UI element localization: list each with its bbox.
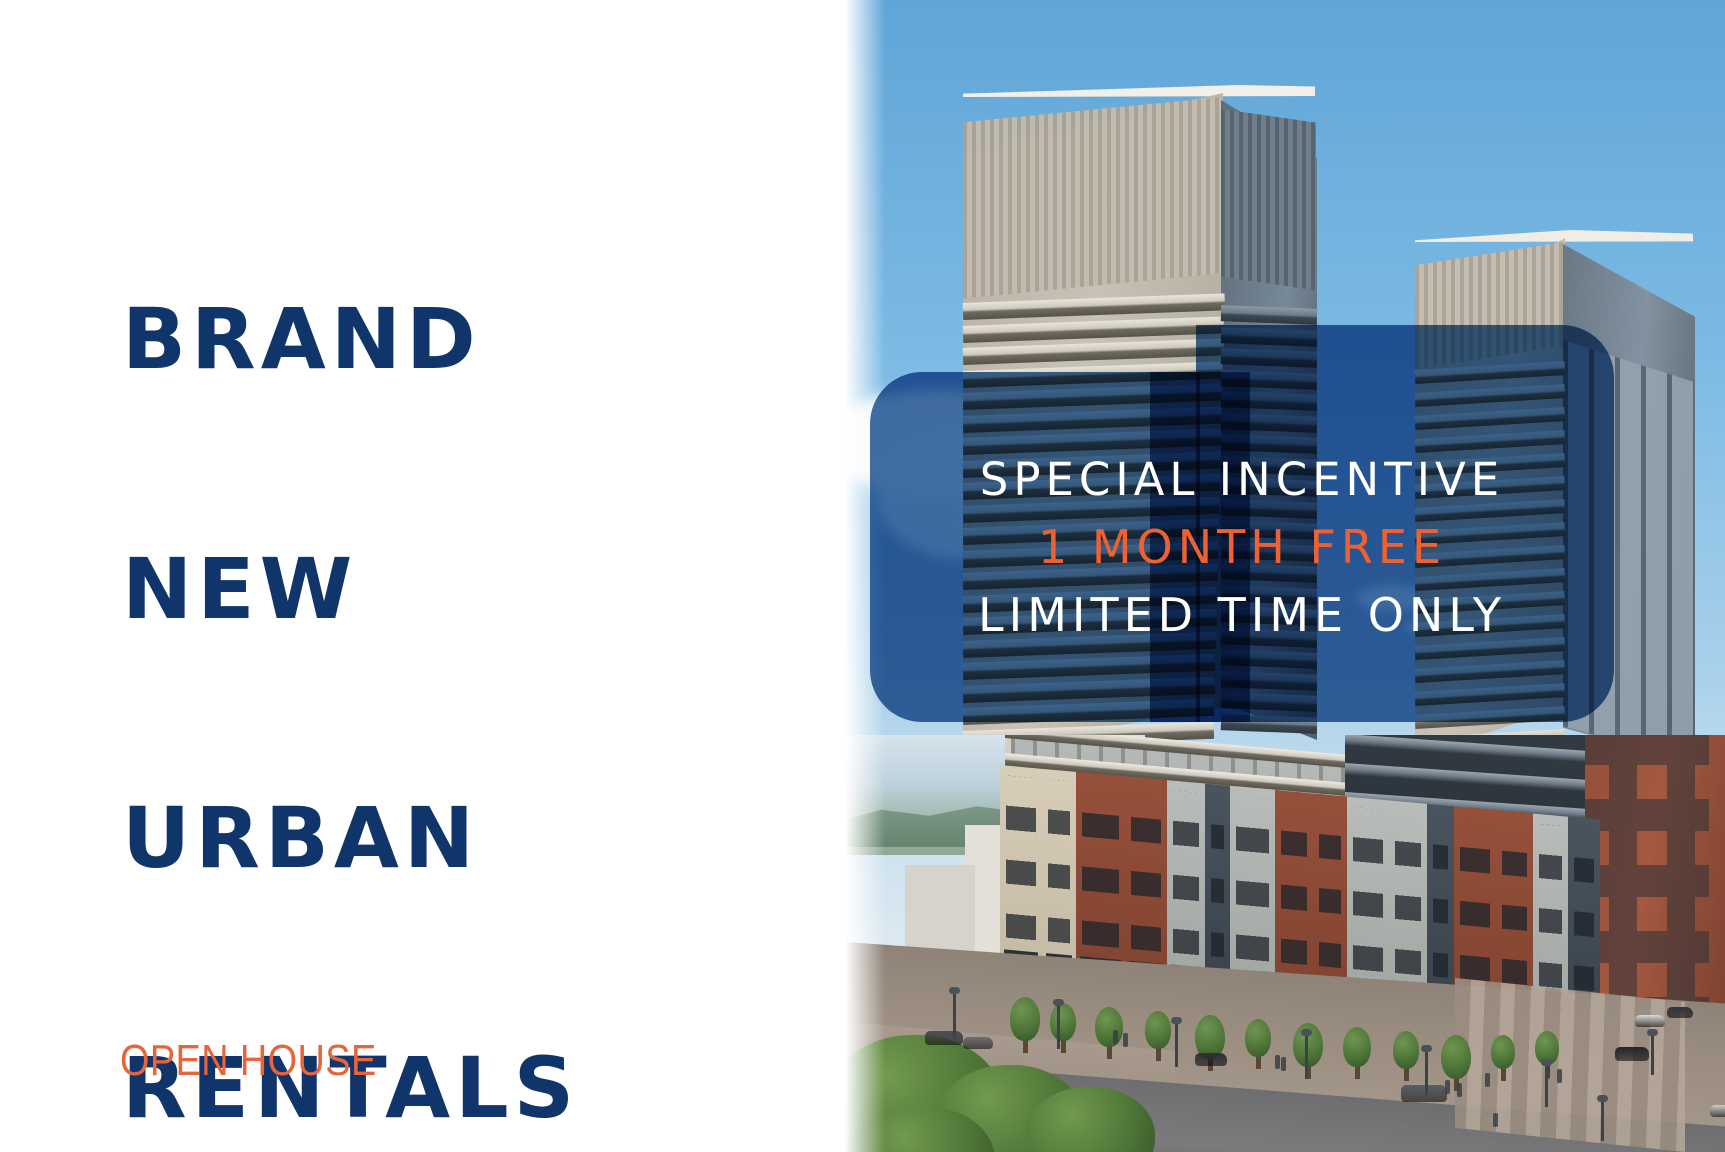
- balcony-slab: [1221, 649, 1318, 669]
- balcony-slab: [1415, 660, 1566, 683]
- car-icon: [1615, 1047, 1649, 1061]
- balcony-slab: [963, 429, 1222, 455]
- street-lamp-icon: [1651, 1035, 1654, 1075]
- balcony-slab: [963, 383, 1223, 410]
- balcony-slab: [1415, 453, 1566, 476]
- balcony-slab: [1221, 671, 1318, 691]
- pedestrian-icon: [1113, 1030, 1118, 1044]
- balcony-slab: [963, 541, 1219, 567]
- primary-tower: [945, 85, 1315, 785]
- bay-window-grid: [1048, 779, 1070, 957]
- pedestrian-icon: [1493, 1113, 1498, 1127]
- balcony-slab: [1221, 391, 1318, 411]
- headline-line-2: NEW: [122, 548, 579, 631]
- tower-crown: [963, 85, 1315, 97]
- balcony-slab: [963, 564, 1218, 590]
- secondary-tower: [1405, 230, 1695, 790]
- balcony-slab: [1415, 430, 1566, 453]
- street-level-podium: [845, 735, 1725, 1152]
- balcony-slab: [1415, 407, 1566, 430]
- balcony-slab: [963, 586, 1218, 612]
- tower-column-grid: [1563, 340, 1694, 760]
- tree-icon: [1343, 1027, 1371, 1067]
- balcony-slab: [1221, 413, 1318, 433]
- promotional-poster: BRAND NEW URBAN RENTALS OPEN HOUSE SATUR…: [0, 0, 1725, 1152]
- terrace-slab: [1345, 735, 1585, 763]
- balcony-slab: [963, 609, 1217, 635]
- balcony-slab: [1221, 542, 1318, 562]
- balcony-slab: [1221, 456, 1318, 476]
- bay-window-grid: [1281, 801, 1307, 979]
- balcony-slab: [1221, 520, 1318, 540]
- bay-window-grid: [1539, 824, 1561, 1002]
- car-icon: [1195, 1053, 1227, 1066]
- tree-icon: [1491, 1035, 1515, 1069]
- balcony-slab: [963, 699, 1215, 725]
- balcony-slab: [1221, 606, 1318, 626]
- tree-icon: [1095, 1007, 1123, 1047]
- street-lamp-icon: [1057, 1005, 1060, 1049]
- bay-window-grid: [1433, 814, 1448, 991]
- street-lamp-icon: [1425, 1051, 1428, 1095]
- bay-window-grid: [1574, 827, 1594, 1005]
- car-icon: [1401, 1085, 1447, 1102]
- bay-window-grid: [1353, 807, 1383, 986]
- balcony-slab: [1221, 477, 1318, 497]
- street-lamp-icon: [953, 993, 956, 1039]
- balcony-slab: [963, 451, 1221, 477]
- balcony-slab: [1415, 384, 1566, 407]
- balcony-slab: [963, 338, 1224, 365]
- balcony-slab: [1415, 614, 1566, 637]
- balcony-slab: [1415, 545, 1566, 568]
- balcony-slab: [1221, 434, 1318, 454]
- balcony-slab: [1415, 499, 1566, 522]
- pedestrian-icon: [1485, 1073, 1490, 1087]
- bay-window-grid: [1211, 794, 1224, 971]
- street-lamp-icon: [1601, 1101, 1604, 1141]
- balcony-slab: [1221, 370, 1318, 390]
- tower-balcony-stack-left: [963, 303, 1225, 753]
- tower-crown: [1415, 230, 1693, 242]
- balcony-slab: [1415, 476, 1566, 499]
- bay-window-grid: [1082, 782, 1119, 961]
- bay-window-grid: [1006, 776, 1036, 955]
- balcony-slab: [1415, 568, 1566, 591]
- balcony-slab: [1415, 683, 1566, 706]
- bay-window-grid: [1236, 796, 1270, 975]
- bay-window-grid: [1460, 817, 1490, 996]
- street-lamp-icon: [1305, 1035, 1308, 1079]
- balcony-slab: [1415, 522, 1566, 545]
- balcony-slab: [1221, 563, 1318, 583]
- pedestrian-icon: [1445, 1080, 1450, 1094]
- pedestrian-icon: [1457, 1083, 1462, 1097]
- bay-window-grid: [1395, 811, 1421, 989]
- street-lamp-icon: [1545, 1065, 1548, 1107]
- pedestrian-icon: [1281, 1057, 1286, 1071]
- balcony-slab: [963, 496, 1220, 522]
- balcony-slab: [963, 519, 1219, 545]
- pedestrian-icon: [1557, 1069, 1562, 1083]
- car-icon: [1635, 1015, 1665, 1027]
- car-icon: [963, 1037, 993, 1049]
- rendering-scene: [845, 0, 1725, 1152]
- balcony-slab: [963, 406, 1222, 432]
- balcony-slab: [1221, 692, 1318, 712]
- building-rendering-image: [845, 0, 1725, 1152]
- balcony-slab: [963, 676, 1215, 702]
- terrace-slab: [1345, 763, 1585, 792]
- pedestrian-icon: [1123, 1033, 1128, 1047]
- tree-icon: [1393, 1031, 1419, 1069]
- street-lamp-icon: [1175, 1023, 1178, 1067]
- car-icon: [1710, 1105, 1725, 1117]
- balcony-slab: [963, 654, 1216, 680]
- balcony-slab: [1221, 348, 1318, 368]
- tower-balcony-stack-right: [1221, 307, 1317, 737]
- balcony-slab: [1221, 305, 1318, 325]
- open-house-details: OPEN HOUSE SATURDAY 10 AM - 4 PM: [120, 920, 569, 1152]
- bay-window-grid: [1502, 821, 1528, 999]
- balcony-slab: [963, 474, 1221, 500]
- balcony-slab: [1221, 585, 1318, 605]
- pedestrian-icon: [1275, 1055, 1280, 1069]
- headline-line-1: BRAND: [122, 298, 579, 381]
- balcony-slab: [1221, 327, 1318, 347]
- open-house-label: OPEN HOUSE: [120, 1033, 569, 1089]
- balcony-slab: [963, 631, 1216, 657]
- balcony-slab: [1415, 591, 1566, 614]
- balcony-slab: [1221, 714, 1318, 734]
- bay-window-grid: [1319, 804, 1341, 982]
- left-text-panel: BRAND NEW URBAN RENTALS OPEN HOUSE SATUR…: [0, 0, 845, 1152]
- bay-window-grid: [1131, 787, 1161, 966]
- tree-icon: [1010, 997, 1040, 1041]
- balcony-slab: [963, 361, 1224, 388]
- bay-window-grid: [1173, 791, 1199, 969]
- tree-icon: [1145, 1011, 1171, 1049]
- tower-glass-band-left: [963, 97, 1221, 307]
- balcony-slab: [1415, 637, 1566, 660]
- headline-line-3: URBAN: [122, 797, 579, 880]
- balcony-slab: [963, 316, 1225, 343]
- car-icon: [925, 1031, 963, 1045]
- balcony-slab: [1221, 628, 1318, 648]
- tower-glass-band-right: [1221, 109, 1316, 304]
- tree-icon: [1245, 1019, 1271, 1057]
- tree-icon: [1050, 1003, 1076, 1041]
- car-icon: [1667, 1007, 1693, 1018]
- balcony-slab: [1221, 499, 1318, 519]
- tree-icon: [1441, 1035, 1471, 1079]
- balcony-slab: [1415, 706, 1566, 729]
- tower-balcony-stack: [1415, 370, 1565, 760]
